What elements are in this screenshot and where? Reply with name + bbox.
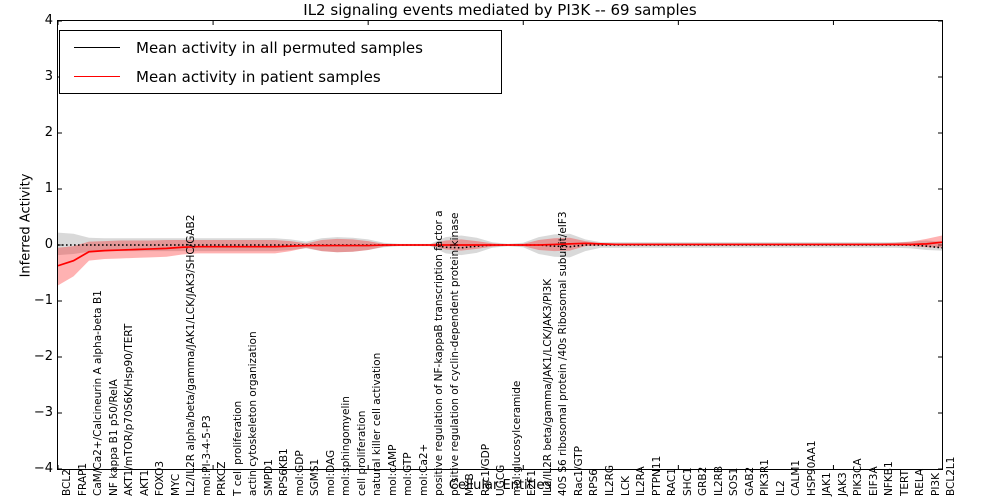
legend-entry-patient: Mean activity in patient samples bbox=[60, 63, 503, 91]
legend-swatch-permuted-icon bbox=[74, 47, 120, 48]
y-tick-label: −2 bbox=[13, 350, 53, 363]
y-tick-label: 4 bbox=[13, 14, 53, 27]
legend-box: Mean activity in all permuted samples Me… bbox=[59, 30, 502, 94]
y-tick-label: −3 bbox=[13, 406, 53, 419]
legend-label-patient: Mean activity in patient samples bbox=[136, 67, 381, 87]
x-axis-label: Cellular Entities bbox=[0, 478, 1000, 493]
page-title: IL2 signaling events mediated by PI3K --… bbox=[0, 1, 1000, 19]
figure-canvas: IL2 signaling events mediated by PI3K --… bbox=[0, 0, 1000, 500]
y-axis-label: Inferred Activity bbox=[19, 106, 34, 346]
y-tick-label: −4 bbox=[13, 462, 53, 475]
legend-label-permuted: Mean activity in all permuted samples bbox=[136, 38, 423, 58]
legend-entry-permuted: Mean activity in all permuted samples bbox=[60, 34, 503, 62]
legend-swatch-patient-icon bbox=[74, 76, 120, 77]
y-tick-label: 3 bbox=[13, 70, 53, 83]
